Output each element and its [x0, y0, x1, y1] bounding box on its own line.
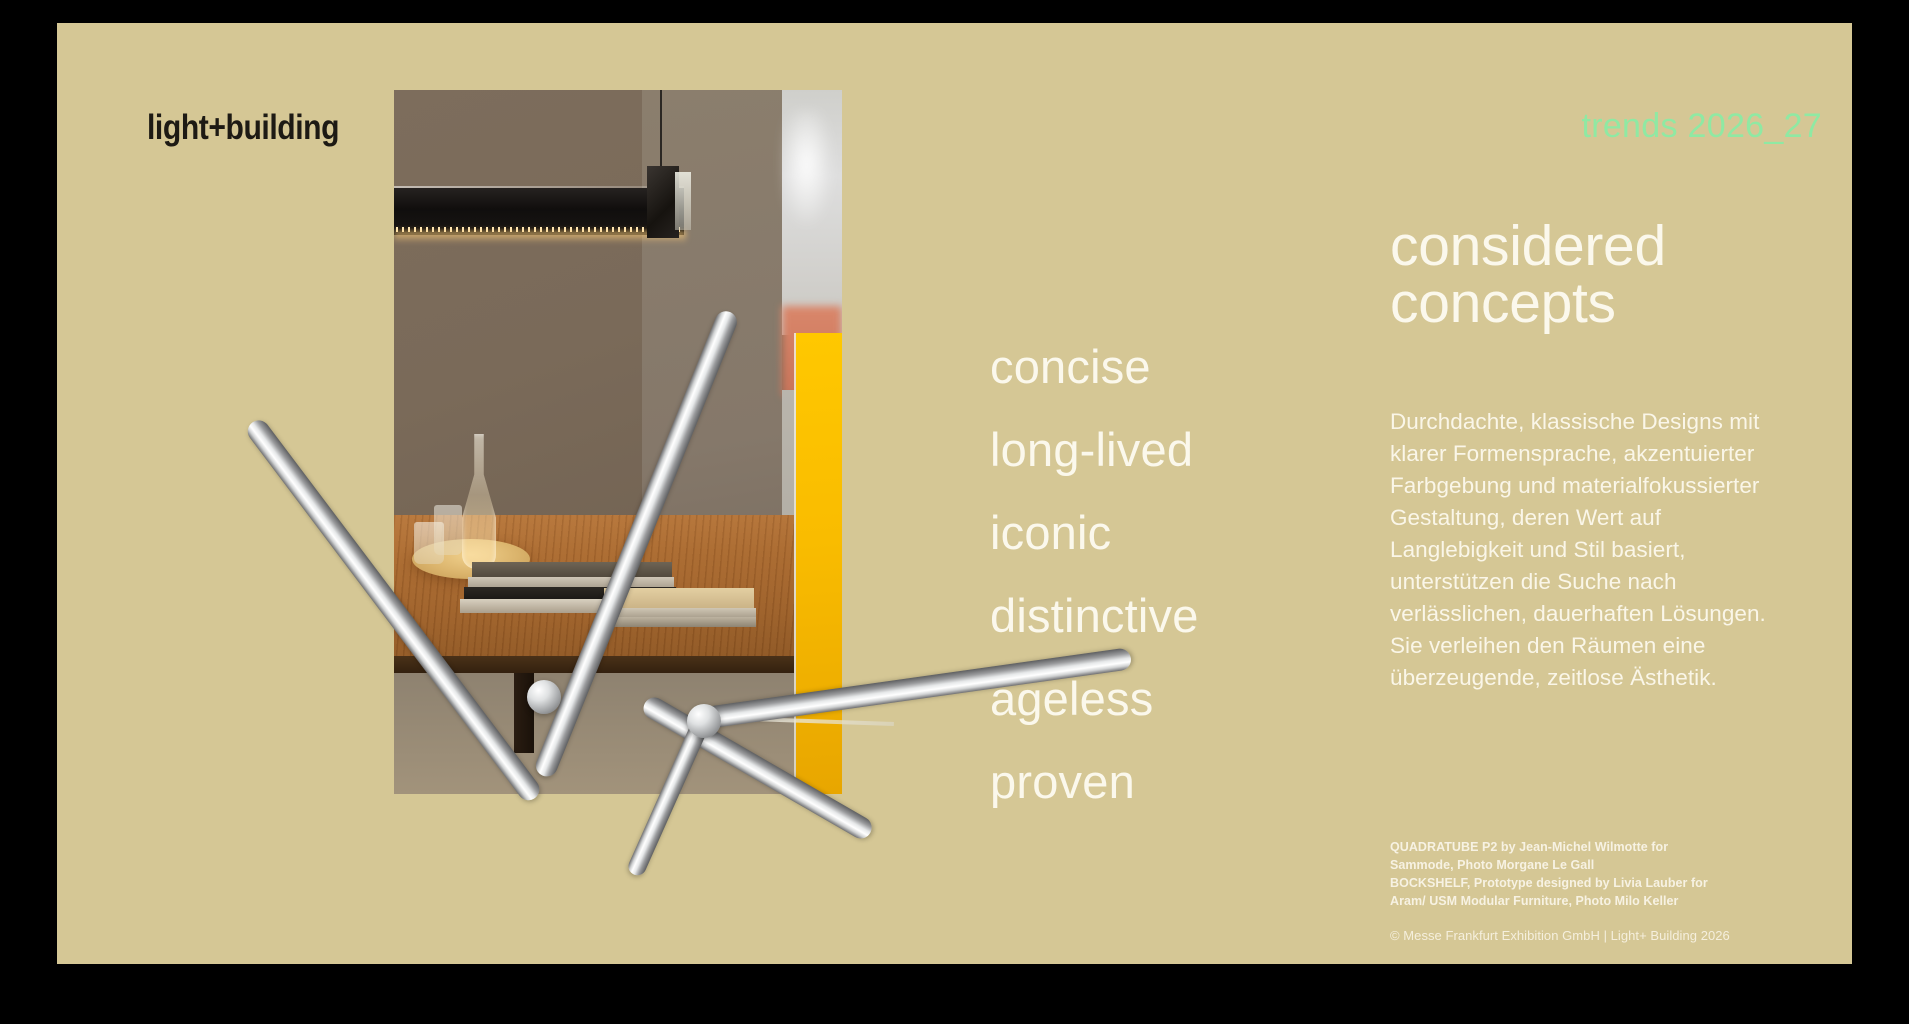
keyword-item: distinctive: [990, 592, 1310, 639]
headline-line-1: considered: [1390, 218, 1790, 275]
keyword-item: long-lived: [990, 426, 1310, 473]
yellow-acrylic-panel: [796, 333, 842, 794]
pendant-lamp-head-glass: [675, 172, 691, 230]
chrome-ball-joint-center: [687, 704, 721, 738]
drinking-glass-a: [434, 505, 462, 555]
headline-line-2: concepts: [1390, 275, 1790, 332]
light-building-logo[interactable]: light+building: [147, 108, 339, 148]
right-column: considered concepts Durchdachte, klassis…: [1390, 23, 1810, 964]
body-paragraph: Durchdachte, klassische Designs mit klar…: [1390, 406, 1790, 693]
slide-frame: light+building trends 2026_27: [0, 0, 1909, 1024]
page-title: considered concepts: [1390, 218, 1790, 332]
credit-line: Sammode, Photo Morgane Le Gall: [1390, 856, 1790, 874]
hero-photo: [394, 90, 842, 794]
window-glow: [784, 110, 834, 230]
keyword-item: iconic: [990, 509, 1310, 556]
keyword-item: proven: [990, 758, 1310, 805]
photo-credits: QUADRATUBE P2 by Jean-Michel Wilmotte fo…: [1390, 838, 1790, 911]
keyword-item: ageless: [990, 675, 1310, 722]
pendant-lamp-cord: [660, 90, 662, 168]
keyword-list: concise long-lived iconic distinctive ag…: [990, 343, 1310, 841]
credit-line: BOCKSHELF, Prototype designed by Livia L…: [1390, 874, 1790, 892]
slide-canvas: light+building trends 2026_27: [57, 23, 1852, 964]
book-g: [596, 617, 756, 627]
credit-line: Aram/ USM Modular Furniture, Photo Milo …: [1390, 892, 1790, 910]
credit-line: QUADRATUBE P2 by Jean-Michel Wilmotte fo…: [1390, 838, 1790, 856]
chrome-ball-joint-left: [527, 680, 561, 714]
keyword-item: concise: [990, 343, 1310, 390]
copyright-notice: © Messe Frankfurt Exhibition GmbH | Ligh…: [1390, 928, 1810, 943]
pendant-lamp-glow: [394, 231, 686, 243]
